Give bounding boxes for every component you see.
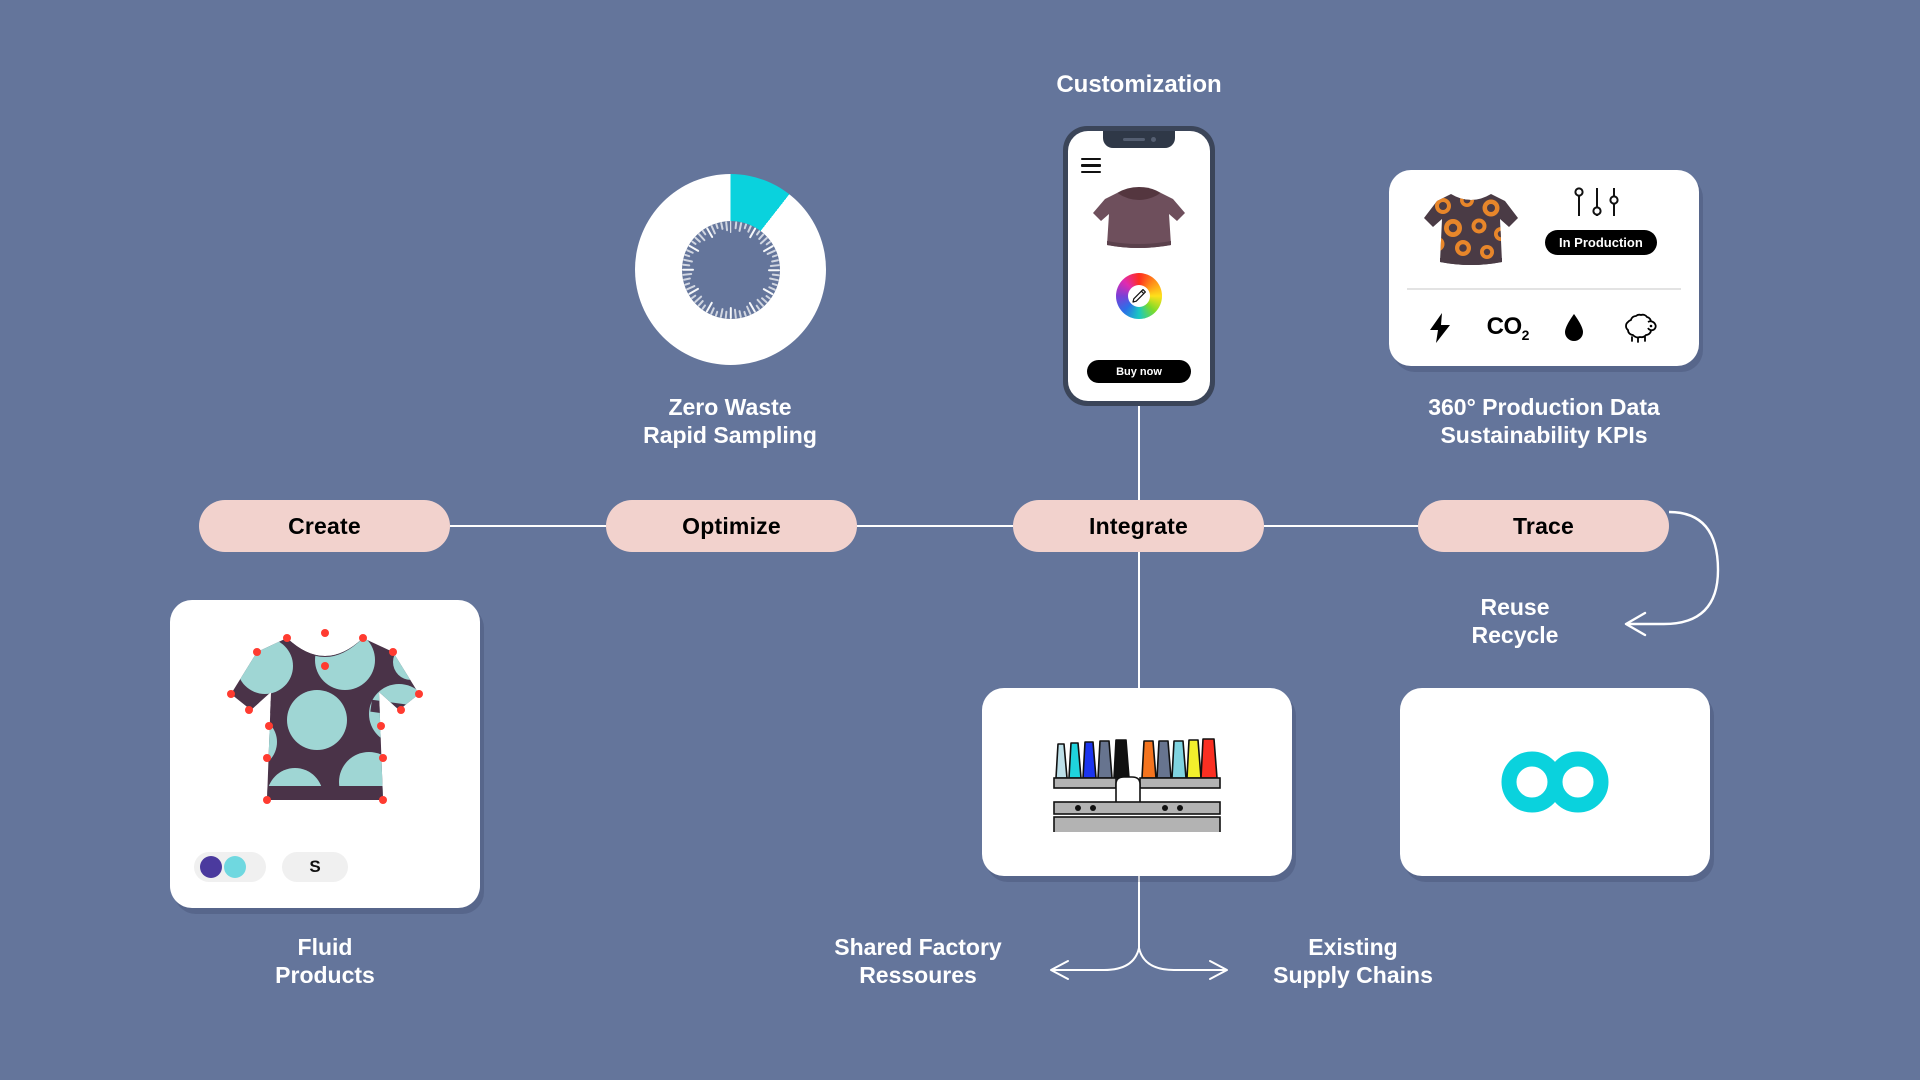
buy-now-button[interactable]: Buy now [1087,360,1191,383]
sweater-image [1087,183,1191,257]
diagram-canvas: Customization Buy now [0,0,1920,1080]
polka-dot-shirt-image [221,622,429,818]
production-data-card: In Production CO2 [1389,170,1699,366]
recycle-arrow-head [1626,613,1645,635]
zero-waste-donut-chart [635,174,826,365]
swatch-purple[interactable] [200,856,222,878]
size-selector[interactable]: S [282,852,348,882]
wool-sheep-icon [1620,313,1660,343]
color-swatch-group[interactable] [194,852,266,882]
phone-mockup[interactable]: Buy now [1063,126,1215,406]
product-options: S [194,852,348,882]
water-drop-icon [1563,313,1585,343]
infinity-loop-icon [1501,751,1609,813]
caption-shared-factory: Shared Factory Ressoures [768,933,1068,989]
card-divider [1407,288,1681,290]
caption-zero-waste: Zero Waste Rapid Sampling [580,393,880,449]
pipeline-step-optimize[interactable]: Optimize [606,500,857,552]
shared-factory-card [982,688,1292,876]
hamburger-icon[interactable] [1081,158,1101,177]
phone-notch [1103,131,1175,148]
sliders-icon [1571,186,1623,220]
production-card-top: In Production [1389,170,1699,288]
co2-icon: CO2 [1487,313,1529,343]
caption-existing-supply-chains: Existing Supply Chains [1203,933,1503,989]
swatch-cyan[interactable] [224,856,246,878]
color-wheel-icon[interactable] [1116,273,1162,319]
caption-reuse-recycle: Reuse Recycle [1405,593,1625,649]
notch-camera [1151,137,1156,142]
timer-ticks-icon [682,221,780,319]
phone-screen: Buy now [1068,131,1210,401]
pipeline-step-integrate[interactable]: Integrate [1013,500,1264,552]
caption-fluid-products: Fluid Products [175,933,475,989]
pencil-icon [1131,288,1147,304]
status-badge: In Production [1545,230,1657,255]
circularity-card [1400,688,1710,876]
patterned-sweater-image [1421,184,1521,272]
kpi-icon-row: CO2 [1389,298,1699,358]
caption-customization: Customization [989,70,1289,99]
notch-speaker [1123,138,1145,141]
fluid-products-card: S [170,600,480,908]
energy-bolt-icon [1428,313,1452,343]
pipeline-step-trace[interactable]: Trace [1418,500,1669,552]
knitting-machine-icon [1052,732,1222,832]
pipeline-step-create[interactable]: Create [199,500,450,552]
caption-production-data: 360° Production Data Sustainability KPIs [1394,393,1694,449]
split-arrow [1053,948,1225,970]
